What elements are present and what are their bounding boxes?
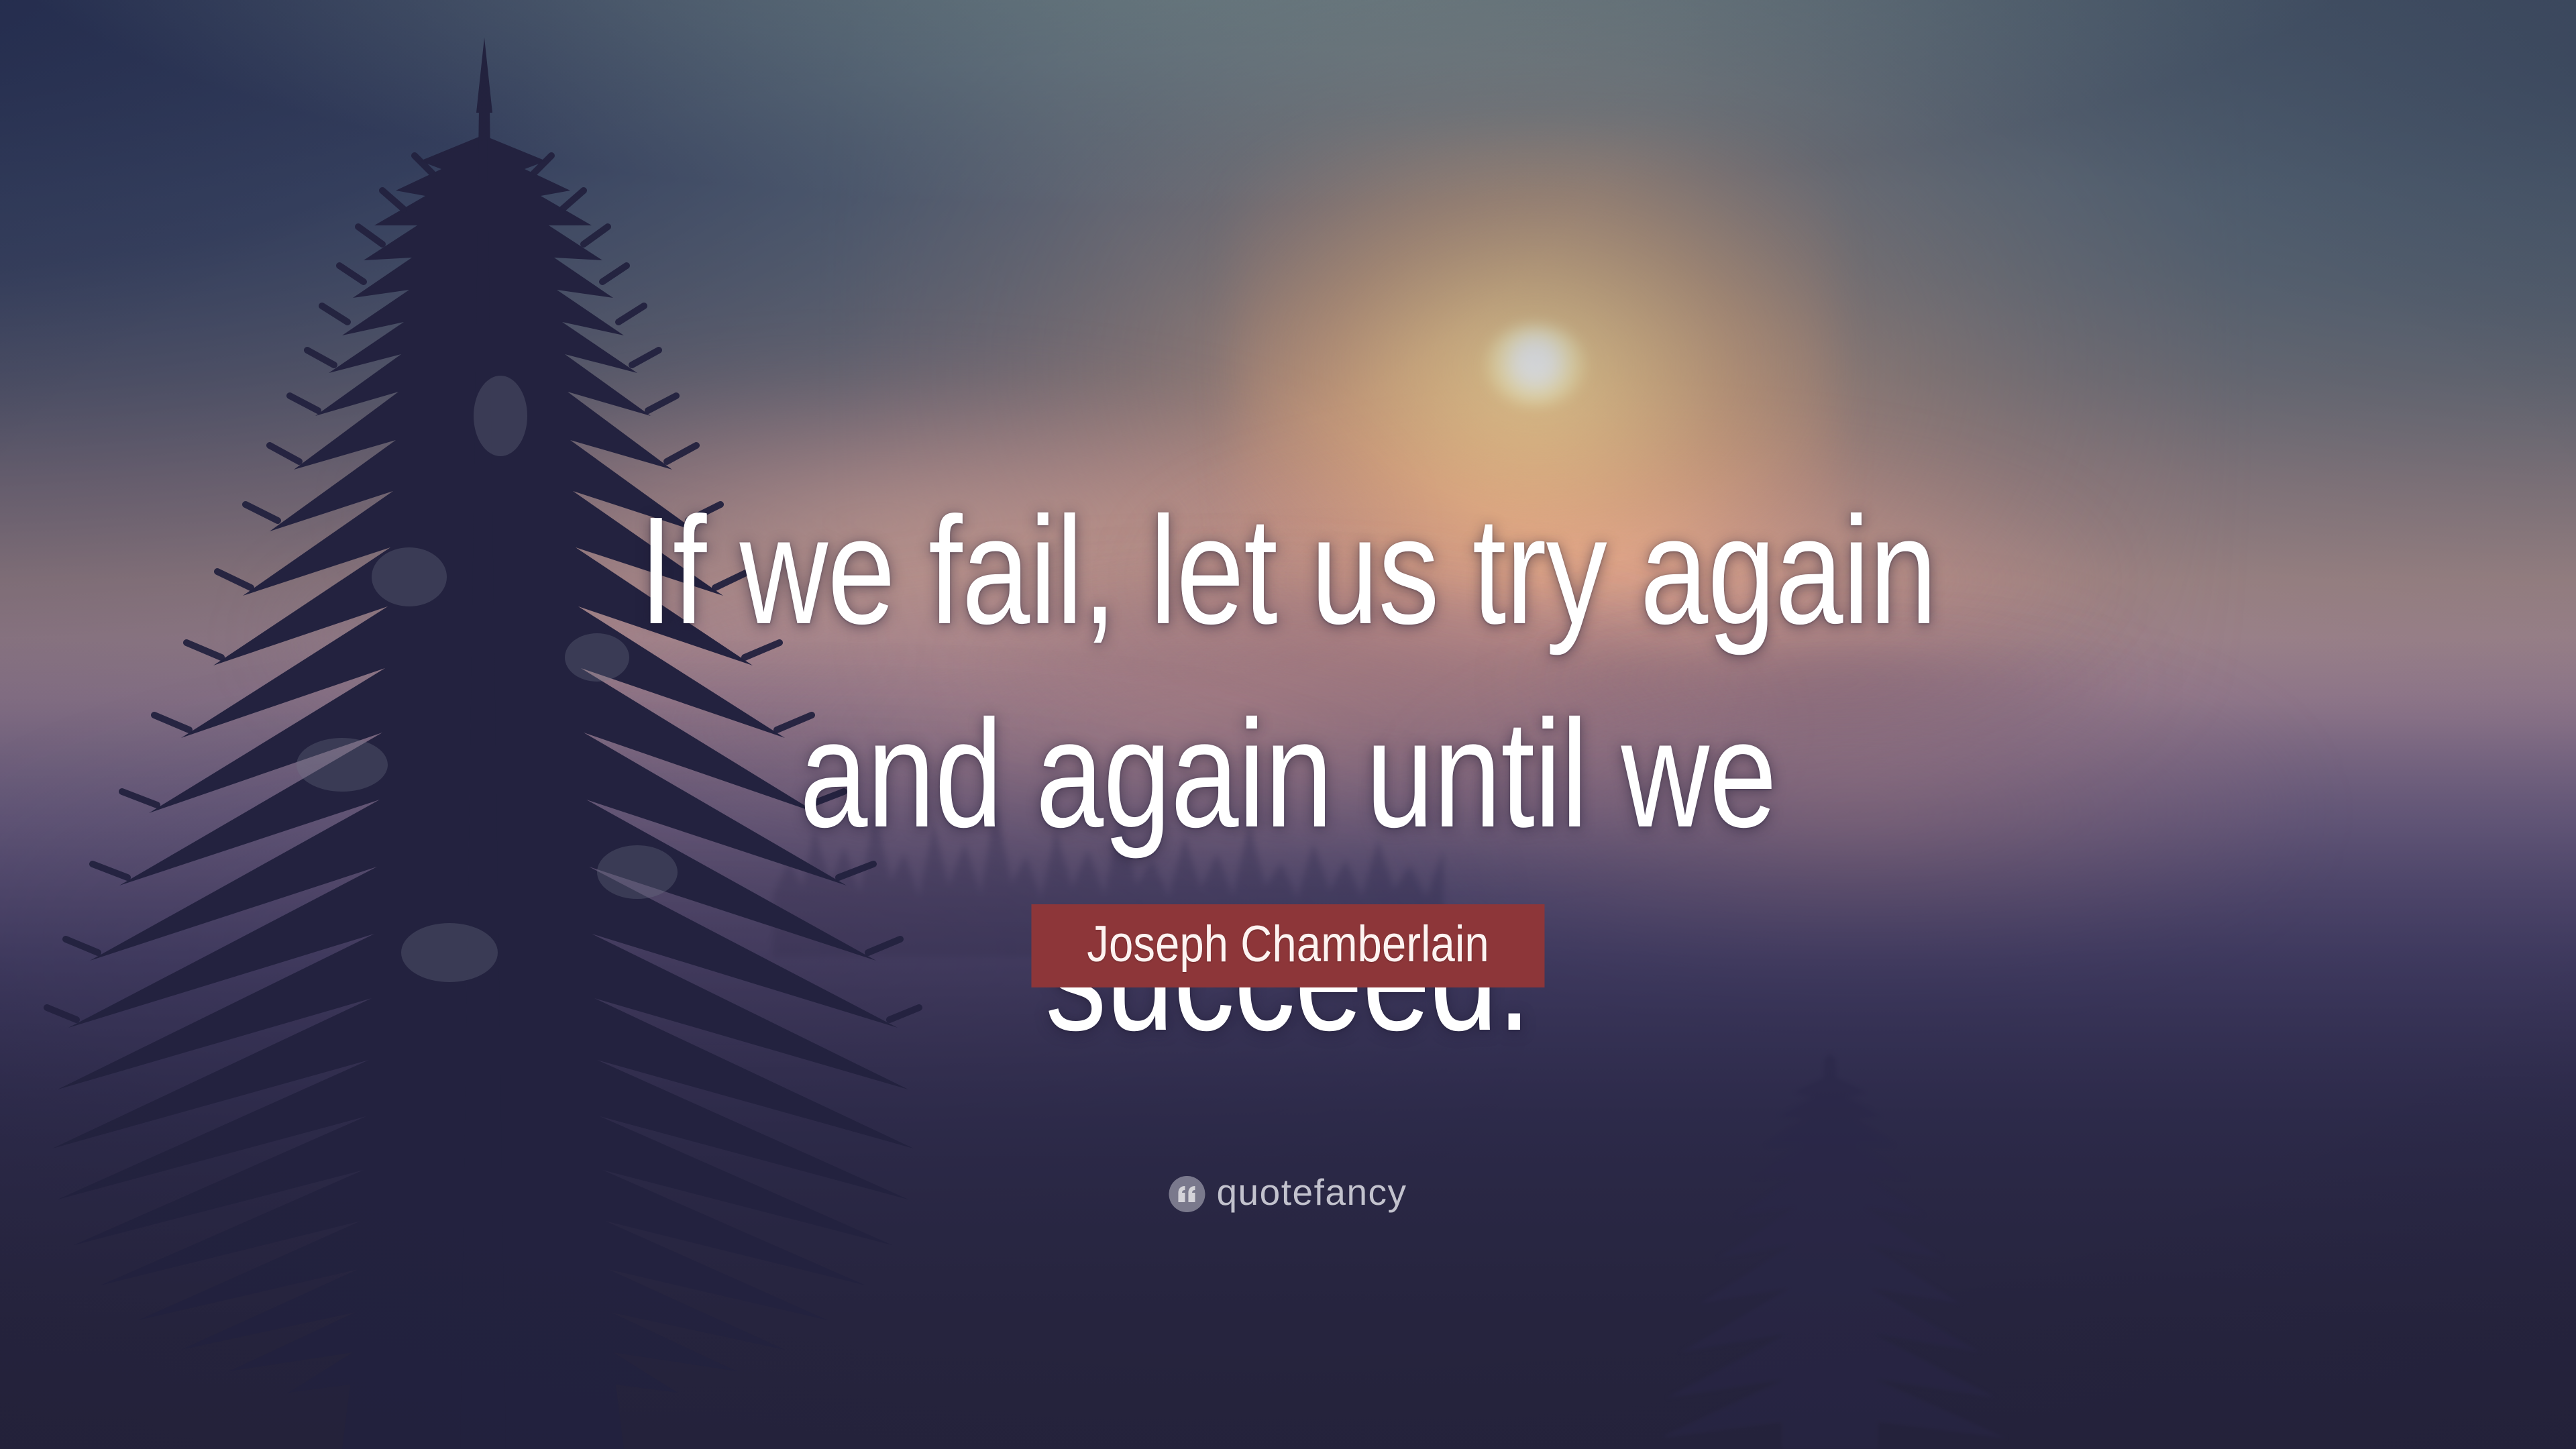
quote-wallpaper: If we fail, let us try again and again u… <box>0 0 2576 1449</box>
quotefancy-watermark[interactable]: quotefancy <box>1169 1175 1407 1212</box>
quote-line-1: If we fail, let us try again <box>590 470 1986 673</box>
quote-text: If we fail, let us try again and again u… <box>416 470 2160 1080</box>
author-name: Joseph Chamberlain <box>1087 919 1489 970</box>
quote-line-2: and again until we succeed. <box>590 673 1986 1079</box>
author-badge: Joseph Chamberlain <box>1031 904 1544 987</box>
double-quote-icon <box>1169 1176 1205 1212</box>
quote-content: If we fail, let us try again and again u… <box>0 0 2576 1449</box>
quotefancy-brand: quotefancy <box>1216 1174 1407 1211</box>
author-attribution: Joseph Chamberlain <box>1031 904 1544 987</box>
